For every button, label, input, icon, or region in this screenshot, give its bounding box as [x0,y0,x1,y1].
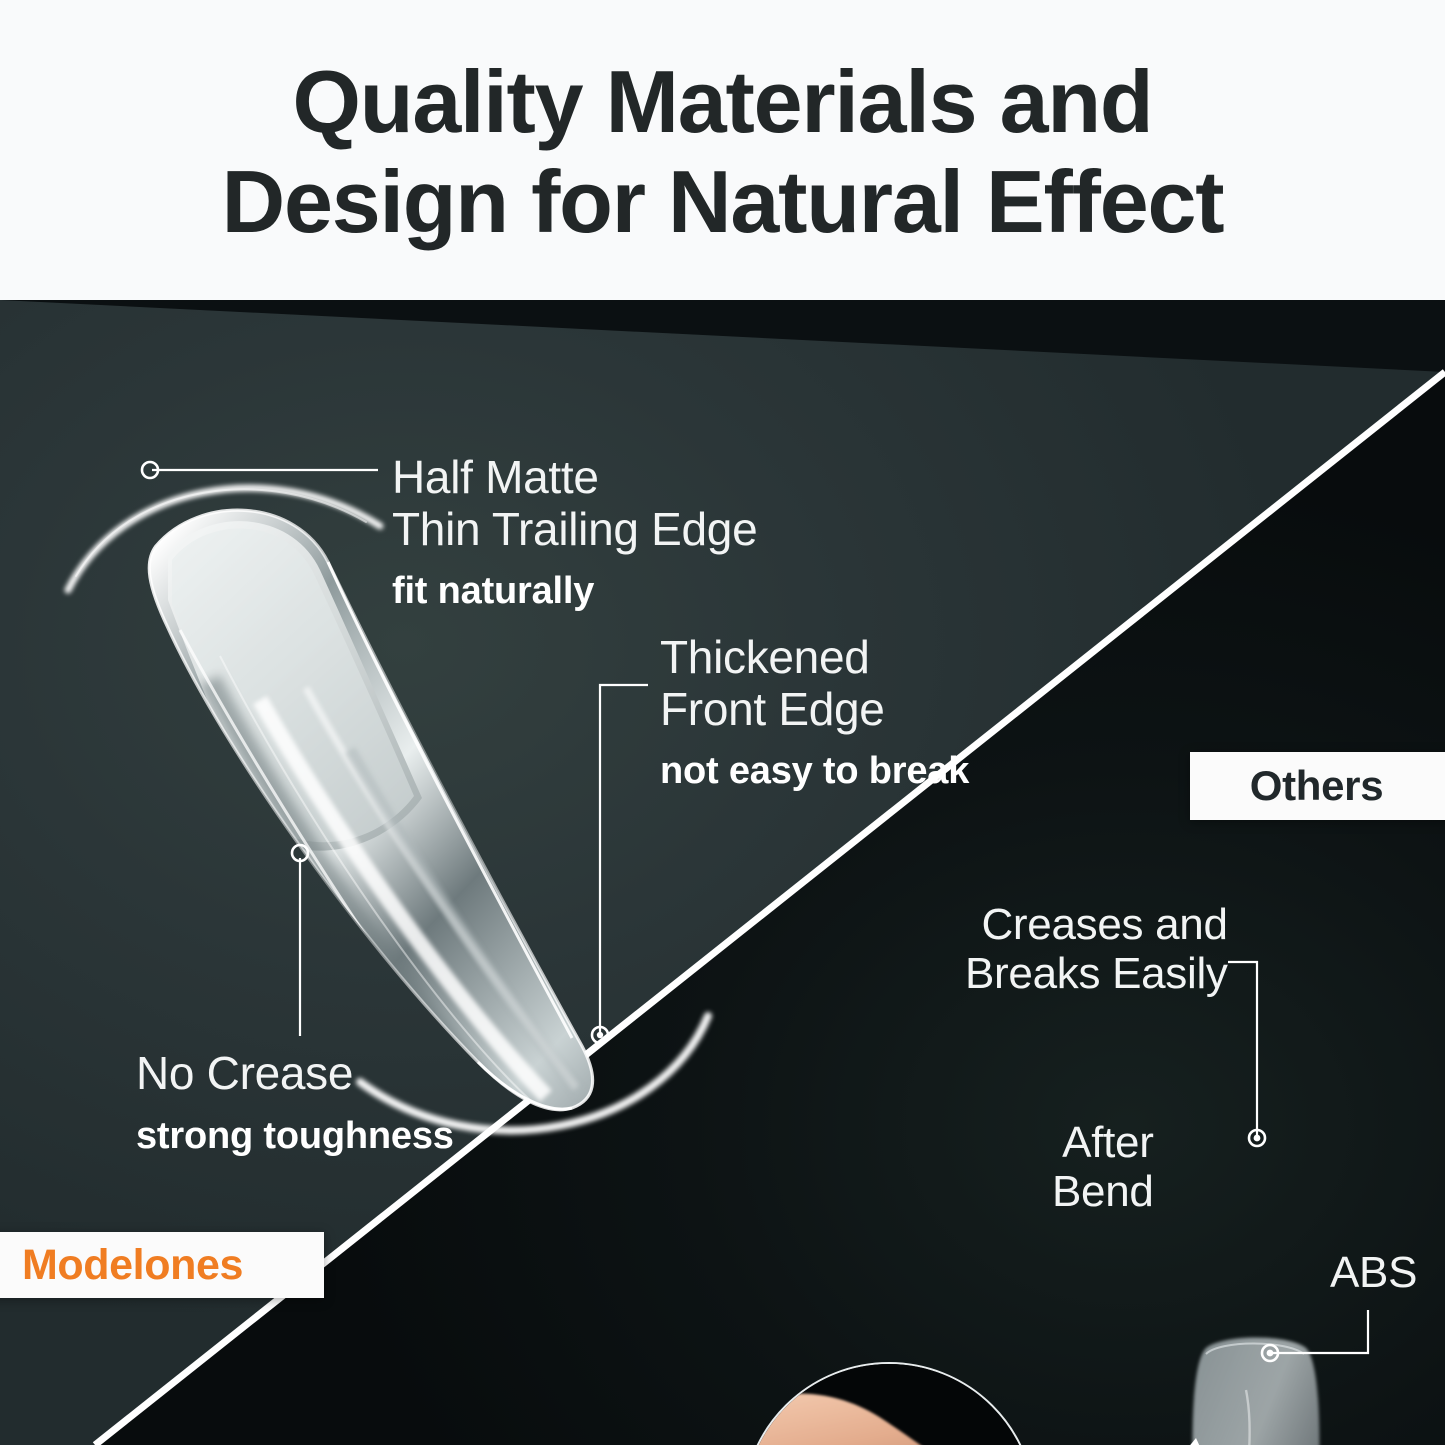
callout-abs-title: ABS [1330,1248,1417,1297]
infographic-canvas: Quality Materials and Design for Natural… [0,0,1445,1445]
callout-after-bend-title: After Bend [1052,1118,1154,1217]
callout-half-matte-subtitle: fit naturally [392,569,757,615]
brand-badge-modelones: Modelones [0,1232,324,1298]
callout-no-crease-subtitle: strong toughness [136,1114,454,1160]
callout-thickened-front-edge: Thickened Front Edge not easy to break [660,632,969,795]
callout-thickened-title: Thickened Front Edge [660,632,969,735]
bend-test-photo [742,1362,1036,1445]
headline-line-1: Quality Materials and [293,52,1153,151]
brand-badge-modelones-label: Modelones [22,1241,243,1290]
callout-no-crease: No Crease strong toughness [136,1048,454,1159]
brand-badge-others: Others [1190,752,1445,820]
callout-half-matte-title: Half Matte Thin Trailing Edge [392,452,757,555]
callout-creases-breaks: Creases and Breaks Easily [965,900,1228,999]
callout-no-crease-title: No Crease [136,1048,454,1100]
header-banner: Quality Materials and Design for Natural… [0,0,1445,300]
others-abs-tip-illustration [1176,1330,1336,1445]
callout-half-matte: Half Matte Thin Trailing Edge fit natura… [392,452,757,615]
page-title: Quality Materials and Design for Natural… [0,52,1445,253]
callout-abs-material: ABS [1330,1248,1417,1297]
fingers-bending-tip-image [744,1364,1034,1445]
callout-after-bend: After Bend [1052,1118,1154,1217]
brand-badge-others-label: Others [1250,762,1406,810]
headline-line-2: Design for Natural Effect [60,152,1385,252]
callout-creases-title: Creases and Breaks Easily [965,900,1228,999]
callout-thickened-subtitle: not easy to break [660,749,969,795]
